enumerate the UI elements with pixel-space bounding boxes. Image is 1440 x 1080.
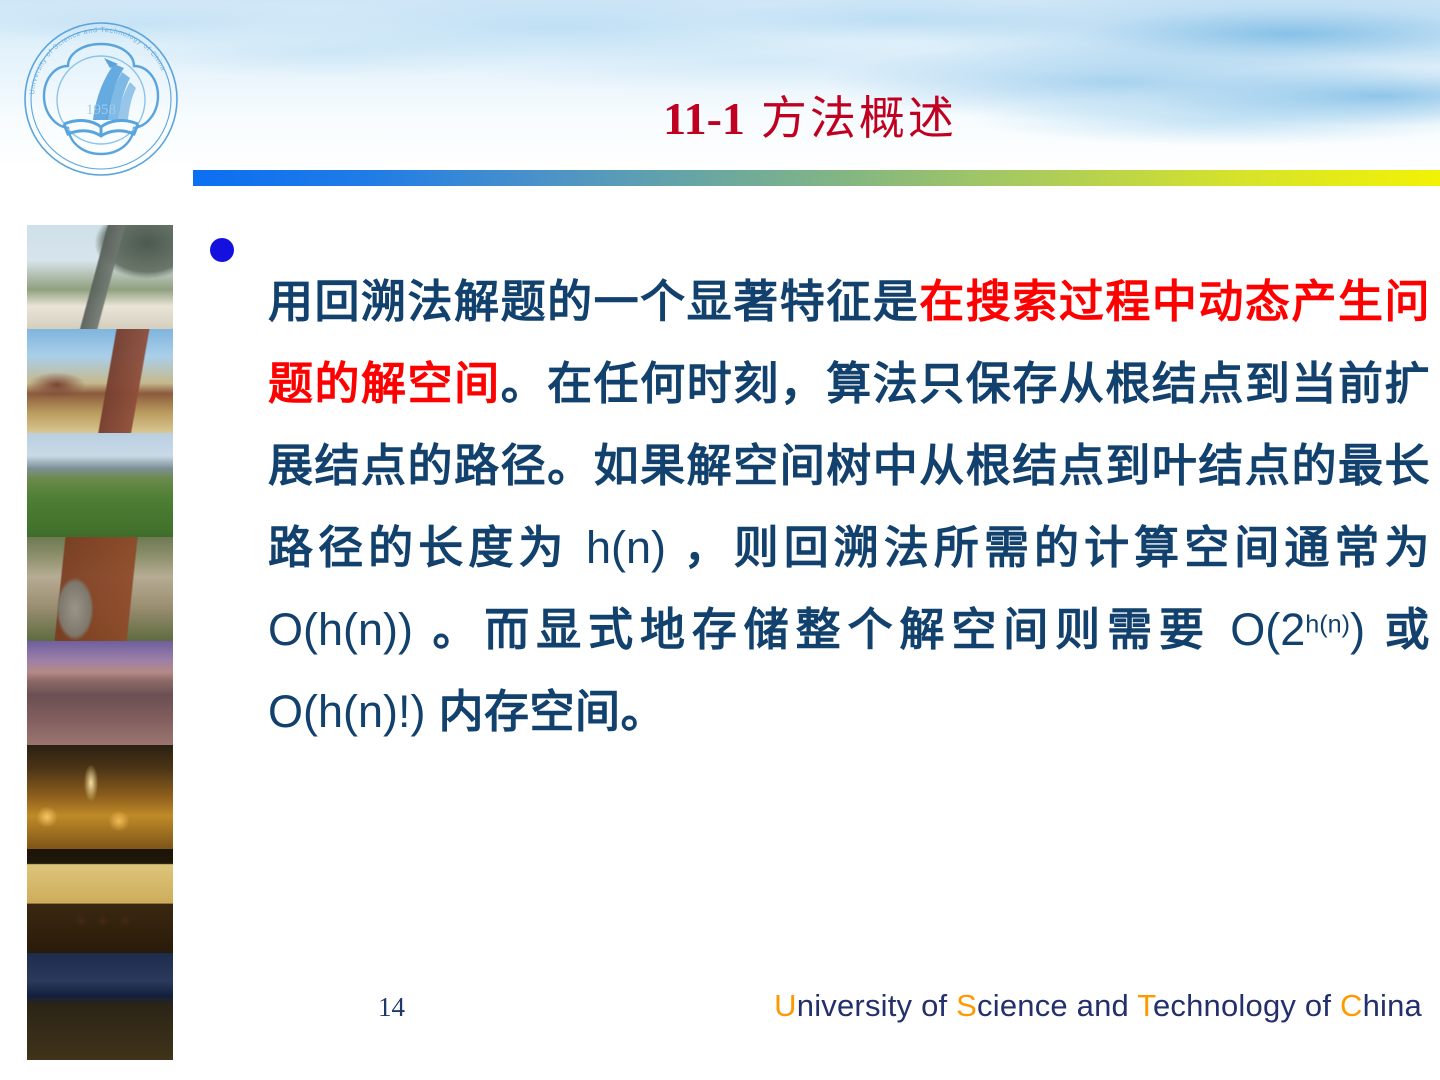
title-number: 11-1 — [663, 93, 745, 144]
page-title: 11-1方法概述 — [190, 90, 1430, 147]
text-segment-o-hn-fact: O(h(n)!) — [268, 686, 426, 737]
slide-root: 1958 University of Science and Technolog… — [0, 0, 1440, 1080]
footer-brand-rest-0: niversity — [797, 988, 921, 1023]
campus-photo-night-building — [27, 953, 173, 1060]
campus-photo-stone-lion — [27, 537, 173, 641]
text-segment-exponent: h(n) — [1305, 604, 1350, 655]
logo-year: 1958 — [86, 102, 116, 118]
footer-brand-cap-t: T — [1137, 988, 1153, 1023]
footer-brand-rest-2: cience — [977, 988, 1077, 1023]
campus-photo-lake-building — [27, 641, 173, 745]
footer-brand-rest-4: echnology — [1153, 988, 1305, 1023]
text-segment-4: ，则回溯法所需的计算空间通常为 — [666, 522, 1430, 573]
bullet-dot-icon — [210, 238, 234, 262]
campus-photo-night-square — [27, 745, 173, 849]
title-heading: 方法概述 — [761, 91, 957, 145]
footer-brand-cap-u: U — [774, 988, 797, 1023]
footer-brand-rest-6: hina — [1363, 988, 1422, 1023]
text-segment-10: 或 — [1365, 604, 1430, 655]
slide-body: 用回溯法解题的一个显著特征是在搜索过程中动态产生问题的解空间。在任何时刻，算法只… — [200, 216, 1430, 798]
campus-photo-strip — [27, 225, 173, 960]
campus-photo-night-gate — [27, 849, 173, 953]
text-segment-o2-open: O(2 — [1230, 604, 1305, 655]
footer-brand-rest-3: and — [1077, 988, 1138, 1023]
text-segment-o2-close: ) — [1350, 604, 1365, 655]
text-segment-hn: h(n) — [586, 522, 666, 573]
footer-brand-cap-s: S — [956, 988, 977, 1023]
text-segment-6: 。而显式地存储整个解空间则需要 — [413, 604, 1230, 655]
bullet-item: 用回溯法解题的一个显著特征是在搜索过程中动态产生问题的解空间。在任何时刻，算法只… — [200, 216, 1430, 798]
text-segment-o-hn: O(h(n)) — [268, 604, 413, 655]
text-segment-0: 用回溯法解题的一个显著特征是 — [268, 276, 919, 327]
logo-ring-text: University of Science and Technology of … — [28, 26, 167, 95]
footer-brand-rest-1: of — [921, 988, 956, 1023]
text-segment-12: 内存空间。 — [426, 686, 667, 737]
footer-brand-rest-5: of — [1305, 988, 1340, 1023]
page-number: 14 — [378, 992, 405, 1023]
footer-brand-cap-c: C — [1340, 988, 1363, 1023]
campus-photo-colonnade — [27, 225, 173, 329]
campus-photo-red-tower — [27, 329, 173, 433]
campus-photo-lawn — [27, 433, 173, 537]
footer-brand: University of Science and Technology of … — [774, 988, 1422, 1024]
gradient-divider — [193, 170, 1440, 186]
bullet-paragraph: 用回溯法解题的一个显著特征是在搜索过程中动态产生问题的解空间。在任何时刻，算法只… — [268, 261, 1430, 753]
ustc-logo: 1958 University of Science and Technolog… — [22, 20, 180, 178]
